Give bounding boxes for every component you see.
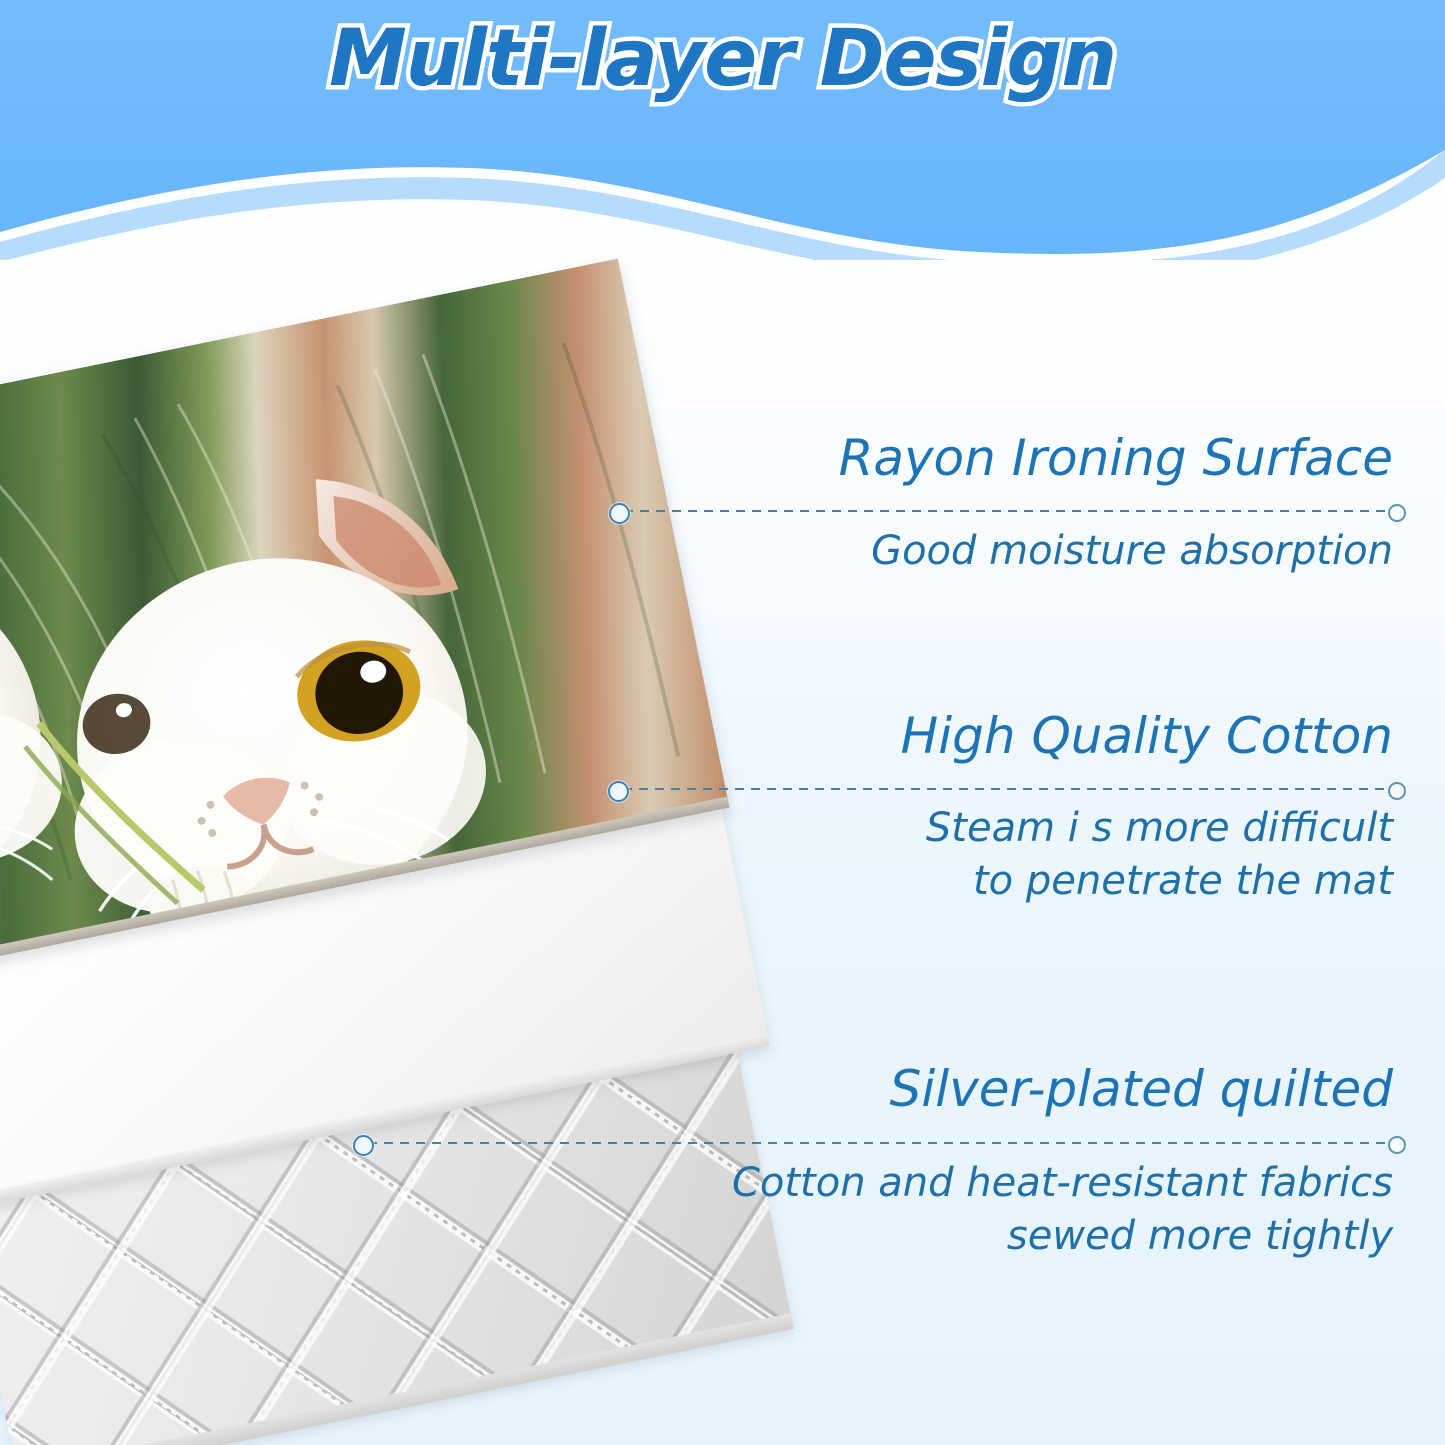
header-banner: Multi-layer Design Multi-layer Design xyxy=(0,0,1445,260)
feature-description-cotton-line1: Steam i s more difficult xyxy=(926,804,1393,853)
page-title-outline: Multi-layer Design xyxy=(0,14,1445,104)
feature-block-rayon-ironing-surface: Rayon Ironing Surface xyxy=(839,432,1393,485)
leader-line-cotton xyxy=(623,788,1394,790)
leader-line-quilted xyxy=(368,1142,1394,1144)
leader-dot-start-cotton xyxy=(608,781,629,802)
feature-desc-block-rayon: Good moisture absorption xyxy=(871,523,1393,576)
feature-desc-block-cotton: Steam i s more difficult to penetrate th… xyxy=(926,800,1393,906)
feature-desc-block-quilted: Cotton and heat-resistant fabrics sewed … xyxy=(732,1155,1393,1261)
feature-description-quilted-line1: Cotton and heat-resistant fabrics xyxy=(732,1159,1393,1208)
infographic-canvas: Multi-layer Design Multi-layer Design xyxy=(0,0,1445,1445)
feature-description-quilted-line2: sewed more tightly xyxy=(732,1212,1393,1261)
product-layer-stack xyxy=(0,270,810,1430)
leader-dot-end-rayon xyxy=(1388,504,1406,522)
feature-description-cotton-line2: to penetrate the mat xyxy=(926,857,1393,906)
leader-dot-end-cotton xyxy=(1388,782,1406,800)
leader-dot-start-rayon xyxy=(609,503,630,524)
feature-heading-cotton: High Quality Cotton xyxy=(901,710,1393,763)
feature-description-rayon: Good moisture absorption xyxy=(871,527,1393,576)
feature-heading-quilted: Silver-plated quilted xyxy=(890,1063,1393,1116)
feature-block-silver-plated-quilted: Silver-plated quilted xyxy=(890,1063,1393,1116)
feature-block-high-quality-cotton: High Quality Cotton xyxy=(901,710,1393,763)
leader-dot-start-quilted xyxy=(353,1135,374,1156)
leader-dot-end-quilted xyxy=(1388,1136,1406,1154)
leader-line-rayon xyxy=(624,510,1394,512)
feature-heading-rayon: Rayon Ironing Surface xyxy=(839,432,1393,485)
